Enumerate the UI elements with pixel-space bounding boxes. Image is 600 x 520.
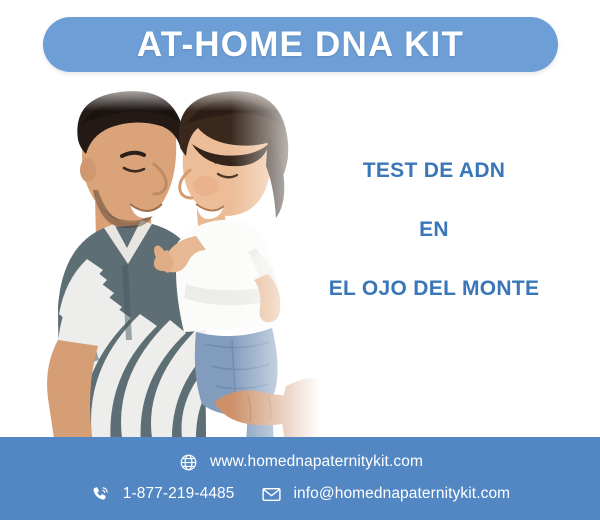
family-photo [0, 78, 320, 444]
website-item[interactable]: www.homednapaternitykit.com [177, 451, 423, 473]
title-banner: AT-HOME DNA KIT [43, 17, 558, 72]
email-item[interactable]: info@homednapaternitykit.com [261, 483, 511, 505]
headline-line-2: EN [310, 219, 558, 240]
headline-line-3: EL OJO DEL MONTE [310, 278, 558, 299]
headline-line-1: TEST DE ADN [310, 160, 558, 181]
phone-item[interactable]: 1-877-219-4485 [90, 483, 235, 505]
envelope-icon [261, 483, 283, 505]
footer-row-website: www.homednapaternitykit.com [0, 451, 600, 473]
promo-poster: AT-HOME DNA KIT [0, 0, 600, 520]
family-photo-illustration [0, 78, 320, 444]
phone-icon [90, 483, 112, 505]
email-text: info@homednapaternitykit.com [294, 486, 511, 502]
footer-row-contact: 1-877-219-4485 info@homednapaternitykit.… [0, 483, 600, 505]
globe-icon [177, 451, 199, 473]
page-title: AT-HOME DNA KIT [137, 27, 464, 62]
contact-footer: www.homednapaternitykit.com 1-877-219-44… [0, 437, 600, 520]
website-text: www.homednapaternitykit.com [210, 454, 423, 470]
headline-block: TEST DE ADN EN EL OJO DEL MONTE [310, 160, 558, 299]
phone-text: 1-877-219-4485 [123, 486, 235, 502]
